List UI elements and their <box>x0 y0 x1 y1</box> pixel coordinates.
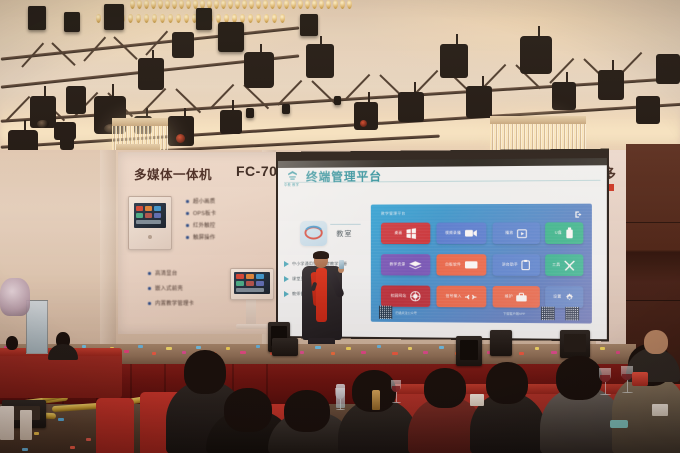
app-tile-label: 桌面 <box>394 231 402 236</box>
napkin <box>470 394 484 406</box>
moving-head-light <box>636 96 660 124</box>
stage-light <box>300 14 318 36</box>
device-screen <box>134 203 166 228</box>
glass-foot <box>622 392 633 393</box>
centerpiece-red <box>632 372 648 386</box>
light-lens <box>37 120 49 128</box>
truss-clamp <box>334 96 341 105</box>
ceiling-bulb-row-2 <box>96 14 285 23</box>
app-tile[interactable]: 设置 <box>545 286 583 308</box>
light-lens-red <box>360 120 367 127</box>
qr-code-mid <box>541 307 555 320</box>
wood-panel-seam <box>626 300 680 301</box>
table-card <box>0 406 14 440</box>
audience-head <box>184 350 226 394</box>
wine-glass <box>598 368 612 400</box>
bullet-label: 嵌入式前壳 <box>155 284 183 292</box>
glass-stem <box>605 382 606 394</box>
presenter-scarf <box>316 268 327 322</box>
ceiling-bulb-row-1 <box>130 0 352 9</box>
banner-title: 多媒体一体机 <box>134 164 212 183</box>
glass-stem <box>396 392 397 402</box>
device-stand-base <box>236 324 268 329</box>
feature-bullet: 红外触控 <box>186 221 215 229</box>
slide-title: 终端管理平台 <box>306 168 382 185</box>
bullet-label: 触屏操作 <box>193 233 215 241</box>
truss-clamp <box>246 108 254 118</box>
bullet-label: 内置教学管理卡 <box>155 299 194 307</box>
moving-head-light <box>306 44 334 78</box>
stage-light <box>196 8 212 30</box>
moving-head-light <box>598 70 624 100</box>
feature-bullet: 内置教学管理卡 <box>148 299 194 307</box>
classroom-label: 教室 <box>336 229 352 239</box>
classroom-icon <box>300 221 327 246</box>
background-guest-head <box>6 336 18 350</box>
audience-head <box>224 388 272 432</box>
app-tile-label: 视频录播 <box>445 231 461 236</box>
device-screen <box>234 272 270 294</box>
app-tile-label: 校园网站 <box>391 294 407 299</box>
glass-stem <box>627 380 628 392</box>
transfer-icon <box>465 291 477 301</box>
chevron-right-icon <box>284 291 289 297</box>
qr-code-right <box>565 307 579 321</box>
feature-bullet: 触屏操作 <box>186 233 215 241</box>
case-panel <box>564 334 586 352</box>
app-tile[interactable]: 播放 <box>493 222 540 244</box>
truss-clamp <box>282 104 290 114</box>
usb-drive-icon <box>565 227 573 238</box>
moving-head-light <box>172 32 194 58</box>
audience-head <box>424 368 466 408</box>
wood-panel-seam <box>626 222 680 223</box>
moving-head-light <box>220 110 242 134</box>
wine-fill <box>600 375 610 382</box>
layers-icon <box>408 260 421 270</box>
stage-light <box>218 22 244 52</box>
app-tile-label: 播放 <box>505 231 513 236</box>
play-box-icon <box>517 228 528 238</box>
bullet-dot <box>186 200 189 203</box>
handheld-device <box>339 260 344 269</box>
bullet-dot <box>148 302 151 305</box>
qr-code-left <box>379 306 392 319</box>
windows-icon <box>405 228 416 239</box>
stage-speaker-grille <box>460 340 478 360</box>
feature-bullet: OPS板卡 <box>186 209 216 217</box>
company-logo-text: 中教 教学 <box>284 182 299 187</box>
bullet-label: 超小画质 <box>193 197 215 205</box>
app-tile[interactable]: 维护 <box>493 286 540 308</box>
panel-kicker-label: 教学管理平台 <box>381 212 406 217</box>
bullet-label: 高清显台 <box>155 269 177 277</box>
chandelier-cap <box>112 118 168 126</box>
bullet-label: OPS板卡 <box>193 209 216 217</box>
wall-column <box>100 150 116 350</box>
product-device-large <box>128 196 172 250</box>
app-tile-label: U盘 <box>555 231 562 236</box>
audience-head <box>486 362 528 404</box>
stage-monitor-case <box>272 338 298 356</box>
moving-head-light <box>138 58 164 90</box>
feature-bullet: 嵌入式前壳 <box>148 284 183 292</box>
classroom-connector-line <box>330 224 360 225</box>
stage-light <box>64 12 80 32</box>
stage-equipment-case <box>490 330 512 356</box>
chevron-right-icon <box>284 276 289 282</box>
glass-foot <box>392 402 401 403</box>
water-bottle <box>336 384 345 408</box>
app-tile-label: 维护 <box>505 294 513 299</box>
audience-head <box>556 356 602 400</box>
wine-glass <box>390 380 402 408</box>
presenter-hair <box>313 251 329 259</box>
teal-item <box>610 420 628 428</box>
classroom-ring-icon <box>300 221 327 246</box>
moving-head-light <box>440 44 468 78</box>
whiteboard-icon <box>464 260 478 269</box>
terminal-app-panel: 教学管理平台 桌面 视频录播 <box>371 204 592 324</box>
product-banner-left: 多媒体一体机 FC-7000 超小画质 OPS板卡 <box>118 152 296 334</box>
lens-icon <box>409 291 420 302</box>
app-tile-label: 设置 <box>553 294 561 299</box>
event-photo-scene: 多媒体一体机 FC-7000 超小画质 OPS板卡 <box>0 0 680 453</box>
napkin <box>652 404 668 416</box>
moving-head-light <box>656 54 680 84</box>
product-device-small <box>230 268 274 300</box>
chandelier-cap <box>490 116 586 124</box>
glass-foot <box>600 394 611 395</box>
app-tile[interactable]: 讲台助手 <box>493 254 540 276</box>
table-card <box>20 410 32 440</box>
app-tile-label: 教学资源 <box>390 262 406 267</box>
app-tile[interactable]: U盘 <box>545 222 583 244</box>
app-tile[interactable]: 信号输入 <box>436 286 486 308</box>
app-tile-label: 讲台助手 <box>502 262 518 267</box>
tools-icon <box>564 259 577 271</box>
bullet-dot <box>186 236 189 239</box>
bullet-dot <box>148 287 151 290</box>
beverage-bottle <box>372 390 380 410</box>
bullet-dot <box>148 272 151 275</box>
app-tile-label: 工具 <box>552 263 560 268</box>
app-tile-label: 信号输入 <box>446 294 462 299</box>
app-tile[interactable]: 校园网站 <box>381 285 430 307</box>
app-tile-label: 白板软件 <box>445 262 461 267</box>
background-guest-head <box>644 330 668 354</box>
gear-icon <box>565 292 576 302</box>
feature-bullet: 高清显台 <box>148 269 177 277</box>
floral-arrangement-left <box>0 278 30 316</box>
moving-head-light <box>244 52 274 88</box>
chair-back <box>96 398 134 453</box>
app-tile[interactable]: 视频录播 <box>436 223 486 244</box>
toolbox-icon <box>516 292 528 302</box>
app-tile[interactable]: 白板软件 <box>436 254 486 276</box>
audience-head <box>284 390 330 432</box>
bullet-dot <box>186 212 189 215</box>
app-tile[interactable]: 教学资源 <box>381 254 430 275</box>
bullet-dot <box>186 224 189 227</box>
qr-caption-right: 下载客户端APP <box>503 312 525 316</box>
app-tile[interactable]: 工具 <box>545 254 583 276</box>
stage-light <box>28 6 46 30</box>
moving-head-light <box>398 92 424 122</box>
qr-caption-left: 扫描关注公众号 <box>395 311 417 315</box>
moving-head-light <box>520 36 552 74</box>
stage-light <box>104 4 124 30</box>
bullet-label: 红外触控 <box>193 221 215 229</box>
clipboard-icon <box>521 259 530 270</box>
moving-head-light <box>66 86 86 114</box>
moving-head-light <box>552 82 576 110</box>
moving-head-light <box>60 136 74 150</box>
video-camera-icon <box>464 228 478 239</box>
app-tile[interactable]: 桌面 <box>381 223 430 244</box>
feature-bullet: 超小画质 <box>186 197 215 205</box>
moving-head-light <box>466 86 492 118</box>
exit-icon[interactable] <box>574 210 584 219</box>
glass-foot <box>336 409 345 410</box>
chevron-right-icon <box>284 261 289 267</box>
